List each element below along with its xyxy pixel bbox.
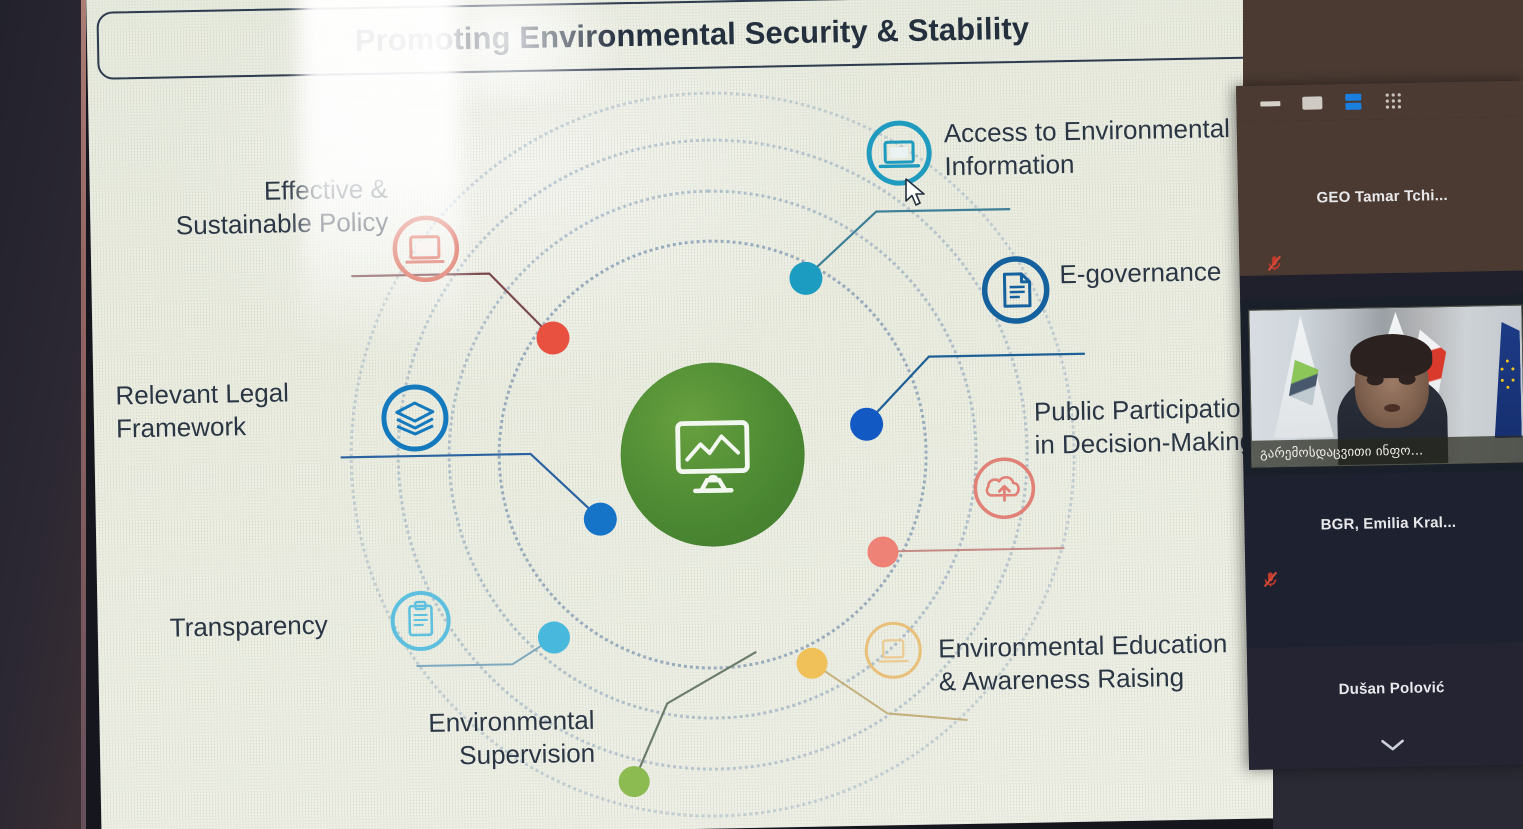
participant-name: Dušan Polović <box>1338 679 1444 698</box>
node-label-environmental-supervision: Environmental Supervision <box>354 704 595 775</box>
participant-hair <box>1350 333 1433 379</box>
layers-icon <box>378 381 451 454</box>
flag-eu-stars <box>1498 358 1517 390</box>
node-label-relevant-legal-framework: Relevant Legal Framework <box>115 375 366 446</box>
monitor-icon <box>390 213 461 284</box>
page-title: Promoting Environmental Security & Stabi… <box>98 0 1285 78</box>
split-view-icon <box>1344 93 1362 111</box>
participant-tile-1[interactable]: GEO Tamar Tchi... <box>1237 116 1523 276</box>
grid-view-icon <box>1384 92 1402 110</box>
node-label-transparency: Transparency <box>169 607 400 644</box>
node-icon-environmental-education-awareness-raising[interactable] <box>861 618 926 683</box>
minimize-button[interactable] <box>1260 101 1280 106</box>
screen-bezel-left <box>0 0 86 829</box>
mic-muted-icon <box>1263 571 1277 587</box>
participant-name: GEO Tamar Tchi... <box>1316 186 1448 206</box>
node-label-effective-sustainable-policy: Effective & Sustainable Policy <box>87 173 388 245</box>
node-icon-public-participation-in-decision-making[interactable] <box>970 454 1039 523</box>
video-conference-panel[interactable]: GEO Tamar Tchi... გარემოსდა <box>1236 80 1523 769</box>
participant-tile-3[interactable]: BGR, Emilia Kral... <box>1243 470 1523 647</box>
participant-name: BGR, Emilia Kral... <box>1321 513 1457 533</box>
split-view-button[interactable] <box>1344 93 1362 111</box>
document-icon <box>979 253 1052 326</box>
maximize-button[interactable] <box>1302 96 1322 109</box>
chevron-down-icon <box>1383 741 1403 749</box>
participant-video-feed[interactable]: გარემოსდაცვითი ინფო... <box>1248 305 1523 468</box>
mic-muted-icon <box>1267 255 1281 271</box>
minimize-icon <box>1260 101 1280 106</box>
slide-title-box: Promoting Environmental Security & Stabi… <box>96 0 1287 80</box>
cloud-upload-icon <box>970 454 1039 523</box>
screenshot-root: Promoting Environmental Security & Stabi… <box>0 0 1523 829</box>
video-panel-titlebar <box>1236 80 1523 122</box>
node-icon-effective-sustainable-policy[interactable] <box>390 213 461 284</box>
node-icon-e-governance[interactable] <box>979 253 1052 326</box>
expand-participants-button[interactable] <box>1379 737 1407 754</box>
smile-monitor-icon <box>861 618 926 683</box>
participant-caption: გარემოსდაცვითი ინფო... <box>1252 436 1523 467</box>
presentation-slide: Promoting Environmental Security & Stabi… <box>86 0 1401 829</box>
participant-caption-text: გარემოსდაცვითი ინფო... <box>1260 443 1424 461</box>
grid-view-button[interactable] <box>1384 92 1402 110</box>
mouse-cursor <box>905 178 927 208</box>
node-icon-relevant-legal-framework[interactable] <box>378 381 451 454</box>
monitor-chart-icon <box>664 406 762 504</box>
maximize-icon <box>1302 96 1322 109</box>
